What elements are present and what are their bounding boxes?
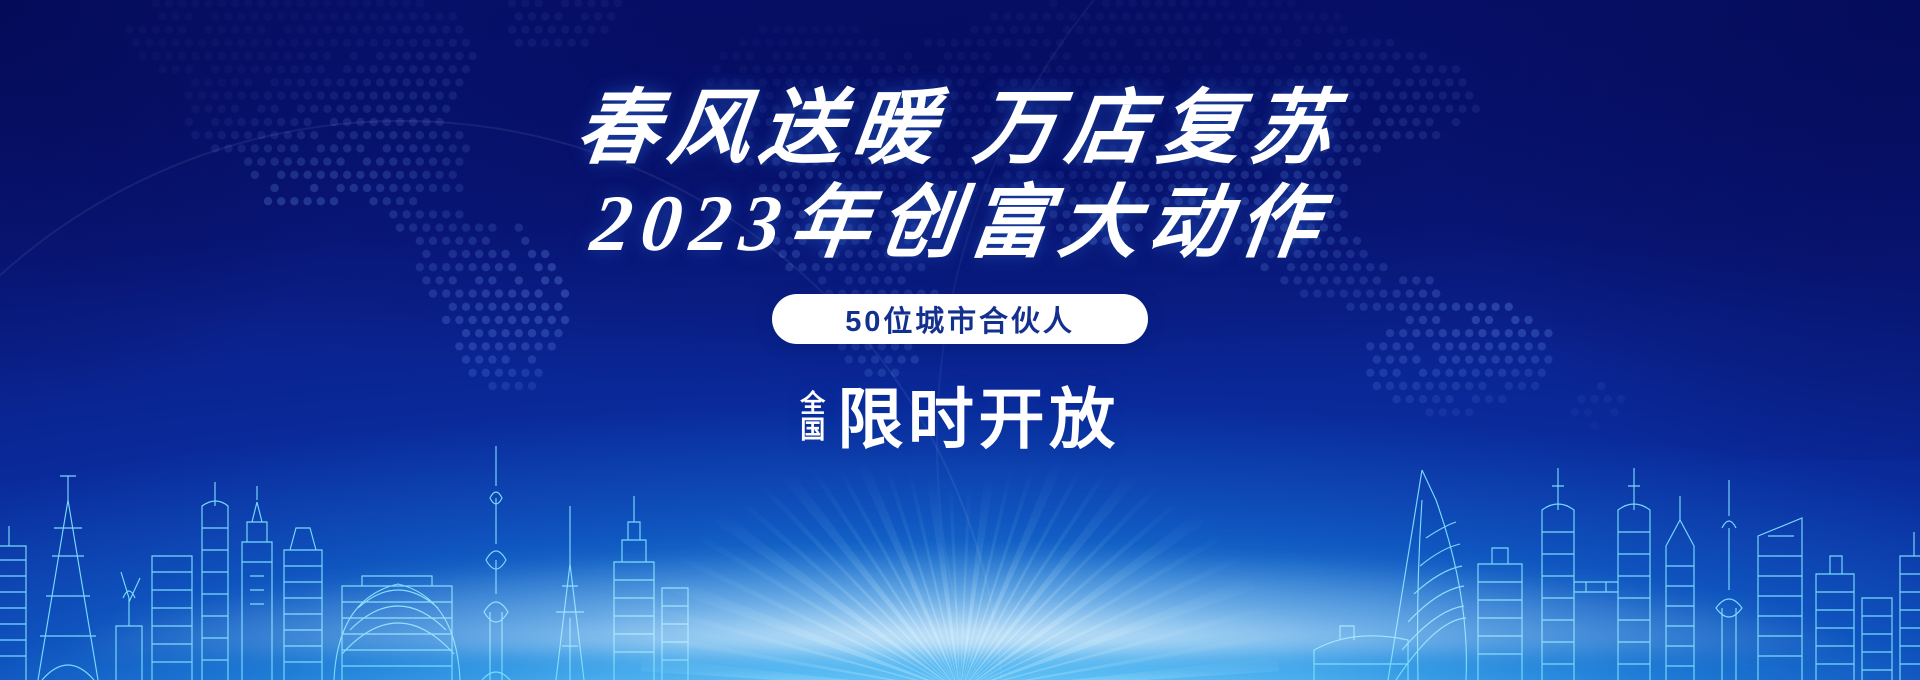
banner-content: 春风送暖 万店复苏 2023年创富大动作 50位城市合伙人 全 国 限时开放 [0,0,1920,680]
headline-line-1: 春风送暖 万店复苏 [572,88,1347,170]
limited-time-open-text: 限时开放 [837,366,1119,462]
nationwide-char-1: 全 [800,391,825,418]
nationwide-char-2: 国 [800,417,825,444]
city-partner-badge[interactable]: 50位城市合伙人 [772,294,1148,344]
headline-line-2: 2023年创富大动作 [587,184,1333,264]
promo-banner: 春风送暖 万店复苏 2023年创富大动作 50位城市合伙人 全 国 限时开放 [0,0,1920,680]
nationwide-stacked-label: 全 国 [800,385,825,444]
subline: 全 国 限时开放 [800,366,1120,462]
